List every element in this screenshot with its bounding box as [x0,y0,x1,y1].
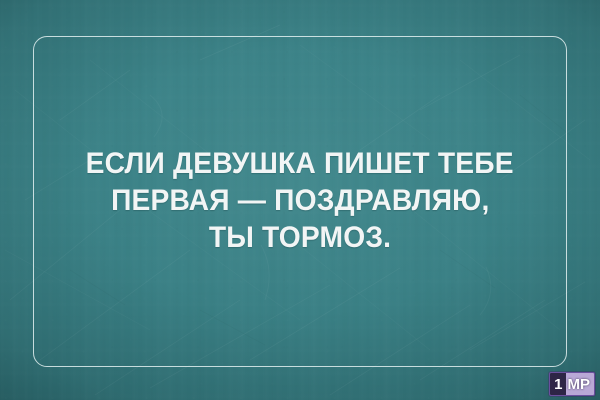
quote-line-2: ПЕРВАЯ — ПОЗДРАВЛЯЮ, [111,182,489,219]
quote-text-block: ЕСЛИ ДЕВУШКА ПИШЕТ ТЕБЕ ПЕРВАЯ — ПОЗДРАВ… [0,0,600,400]
watermark-number: 1 [550,373,565,395]
watermark-label: MP [566,373,595,395]
quote-card: ЕСЛИ ДЕВУШКА ПИШЕТ ТЕБЕ ПЕРВАЯ — ПОЗДРАВ… [0,0,600,400]
quote-line-1: ЕСЛИ ДЕВУШКА ПИШЕТ ТЕБЕ [86,145,514,182]
watermark-badge: 1 MP [549,372,595,396]
quote-line-3: ТЫ ТОРМОЗ. [209,219,391,256]
